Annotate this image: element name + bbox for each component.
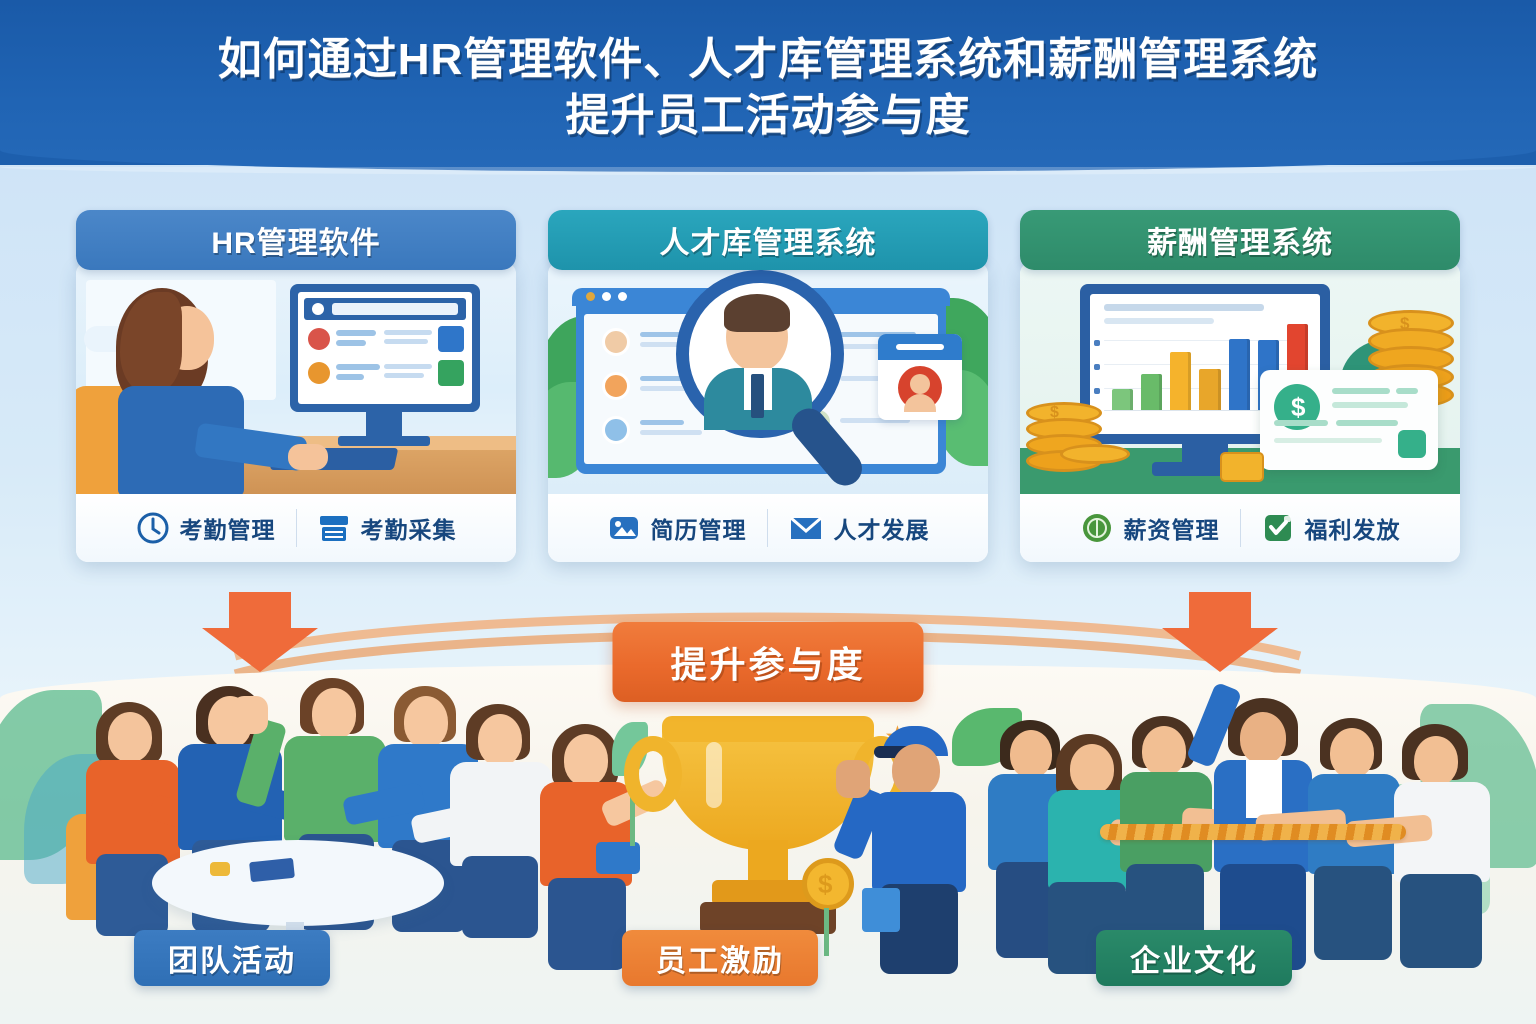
- arrow-stem: [1189, 592, 1251, 628]
- feature-item[interactable]: 福利发放: [1247, 511, 1415, 545]
- features-hr-software: 考勤管理 考勤采集: [76, 494, 516, 562]
- feature-divider: [1240, 509, 1241, 547]
- page-title-line2: 提升员工活动参与度: [0, 88, 1536, 144]
- card-title-hr-software: HR管理软件: [76, 210, 516, 270]
- feature-label: 简历管理: [651, 511, 747, 545]
- envelope-icon: [788, 511, 824, 545]
- feature-divider: [767, 509, 768, 547]
- card-talent-pool[interactable]: 人才库管理系统: [548, 210, 988, 562]
- feature-item[interactable]: 考勤管理: [122, 511, 290, 545]
- page-title-line1: 如何通过HR管理软件、人才库管理系统和薪酬管理系统: [0, 0, 1536, 88]
- feature-item[interactable]: 薪资管理: [1066, 511, 1234, 545]
- archive-icon: [317, 511, 351, 545]
- arrow-stem: [229, 592, 291, 628]
- card-body-payroll: $ $ $: [1020, 262, 1460, 562]
- image-icon: [607, 511, 641, 545]
- feature-item[interactable]: 人才发展: [774, 511, 944, 545]
- flow-arrow-left: [202, 592, 318, 672]
- feature-item[interactable]: 简历管理: [593, 511, 761, 545]
- infographic-poster: 如何通过HR管理软件、人才库管理系统和薪酬管理系统 提升员工活动参与度 HR管理…: [0, 0, 1536, 1024]
- bottom-label-employee-incentive[interactable]: 员工激励: [622, 930, 818, 986]
- illustration-candidate-search-magnifier: [548, 262, 988, 494]
- chart-bar: [1141, 374, 1162, 410]
- card-body-talent-pool: 简历管理 人才发展: [548, 262, 988, 562]
- card-title-talent-pool: 人才库管理系统: [548, 210, 988, 270]
- illustration-payroll-chart-coins: $ $ $: [1020, 262, 1460, 494]
- arrow-head: [1162, 628, 1278, 672]
- chart-bar: [1112, 389, 1133, 410]
- feature-label: 人才发展: [834, 511, 930, 545]
- center-banner-label: 提升参与度: [612, 622, 923, 702]
- card-title-payroll: 薪酬管理系统: [1020, 210, 1460, 270]
- arrow-head: [202, 628, 318, 672]
- chart-bar: [1170, 352, 1191, 410]
- coin-icon: [1080, 511, 1114, 545]
- chart-bar: [1229, 339, 1250, 410]
- feature-divider: [296, 509, 297, 547]
- features-payroll: 薪资管理 福利发放: [1020, 494, 1460, 562]
- features-talent-pool: 简历管理 人才发展: [548, 494, 988, 562]
- clock-icon: [136, 511, 170, 545]
- bottom-label-team-activity[interactable]: 团队活动: [134, 930, 330, 986]
- chart-bar: [1199, 369, 1220, 410]
- flow-arrow-right: [1162, 592, 1278, 672]
- poster-header: 如何通过HR管理软件、人才库管理系统和薪酬管理系统 提升员工活动参与度: [0, 0, 1536, 172]
- bottom-scene: 团队活动: [0, 664, 1536, 1024]
- illustration-hr-officer-at-desktop: [76, 262, 516, 494]
- feature-item[interactable]: 考勤采集: [303, 511, 471, 545]
- card-hr-software[interactable]: HR管理软件: [76, 210, 516, 562]
- feature-label: 考勤管理: [180, 511, 276, 545]
- feature-label: 福利发放: [1305, 511, 1401, 545]
- system-cards-row: HR管理软件: [0, 210, 1536, 562]
- check-badge-icon: [1261, 511, 1295, 545]
- tug-rope: [1100, 824, 1406, 840]
- card-payroll[interactable]: 薪酬管理系统: [1020, 210, 1460, 562]
- feature-label: 考勤采集: [361, 511, 457, 545]
- feature-label: 薪资管理: [1124, 511, 1220, 545]
- card-body-hr-software: 考勤管理 考勤采集: [76, 262, 516, 562]
- bottom-label-company-culture[interactable]: 企业文化: [1096, 930, 1292, 986]
